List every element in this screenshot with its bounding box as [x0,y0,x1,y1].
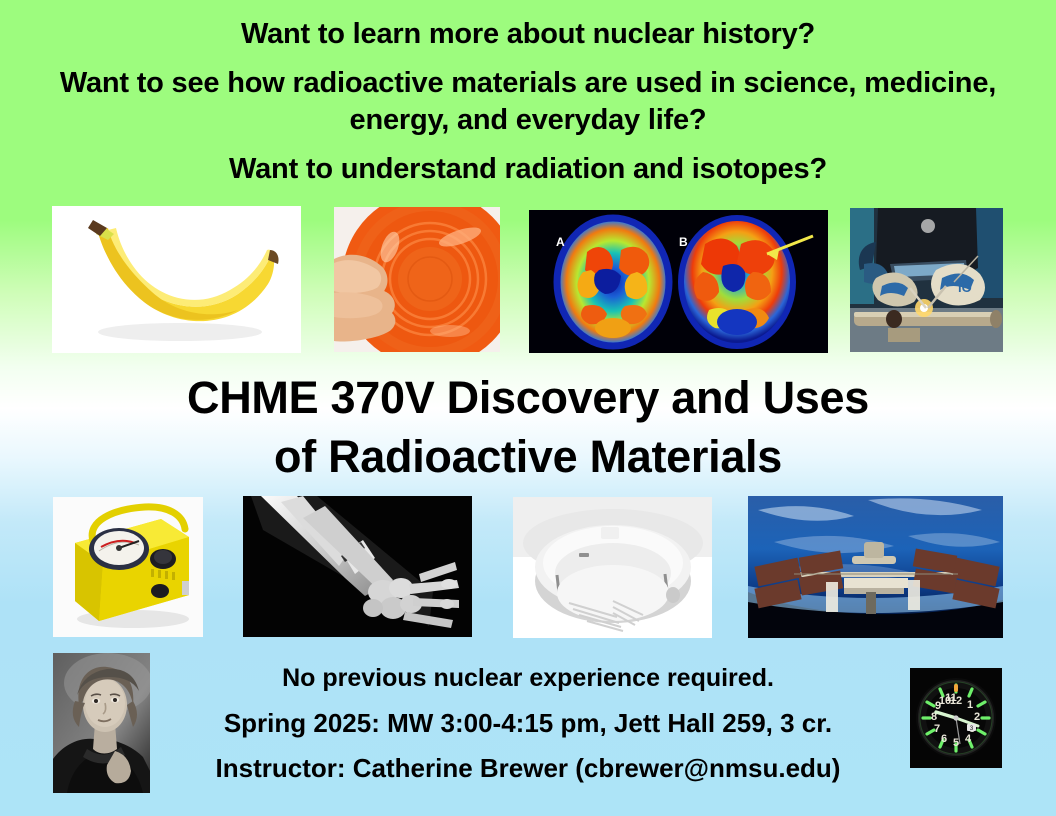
info-line-prerequisite: No previous nuclear experience required. [0,666,1056,710]
orange-plate-illustration [334,207,500,352]
iss-illustration [748,496,1003,638]
welder-photo: iO [850,208,1003,352]
space-station-photo [748,496,1003,638]
course-info-block: No previous nuclear experience required.… [0,666,1056,781]
svg-text:5: 5 [953,737,959,749]
title-line-2: of Radioactive Materials [0,427,1056,486]
info-line-schedule: Spring 2025: MW 3:00-4:15 pm, Jett Hall … [0,710,1056,755]
smoke-detector-illustration [513,497,712,638]
headline-line-3: Want to understand radiation and isotope… [0,151,1056,188]
title-line-1: CHME 370V Discovery and Uses [0,368,1056,427]
course-poster: Want to learn more about nuclear history… [0,0,1056,816]
smoke-detector-photo [513,497,712,638]
pet-scan-label-b: B [679,235,688,249]
welder-illustration: iO [850,208,1003,352]
svg-text:11: 11 [945,692,957,704]
banana-photo [52,206,301,353]
geiger-counter-photo [53,497,203,637]
fiestaware-plate-photo [334,207,500,352]
svg-text:4: 4 [965,733,972,745]
page-title: CHME 370V Discovery and Uses of Radioact… [0,368,1056,487]
arm-xray-illustration [243,496,472,637]
svg-text:6: 6 [941,733,947,745]
svg-text:2: 2 [974,711,980,723]
headline-block: Want to learn more about nuclear history… [0,0,1056,188]
geiger-counter-illustration [53,497,203,637]
headline-line-1: Want to learn more about nuclear history… [0,16,1056,53]
banana-illustration [52,206,301,353]
svg-text:1: 1 [967,699,973,711]
pet-scan-label-a: A [556,235,565,249]
headline-line-2: Want to see how radioactive materials ar… [18,65,1038,139]
info-line-instructor: Instructor: Catherine Brewer (cbrewer@nm… [0,755,1056,781]
svg-text:iO: iO [958,280,972,295]
pet-scan-illustration: A B [529,210,828,353]
arm-xray-photo [243,496,472,637]
glowing-watch-illustration: 12 1 2 3 4 5 6 7 8 9 10 11 3 [910,668,1002,768]
pet-brain-scan-photo: A B [529,210,828,353]
tritium-watch-photo: 12 1 2 3 4 5 6 7 8 9 10 11 3 [910,668,1002,768]
svg-text:7: 7 [934,723,940,735]
